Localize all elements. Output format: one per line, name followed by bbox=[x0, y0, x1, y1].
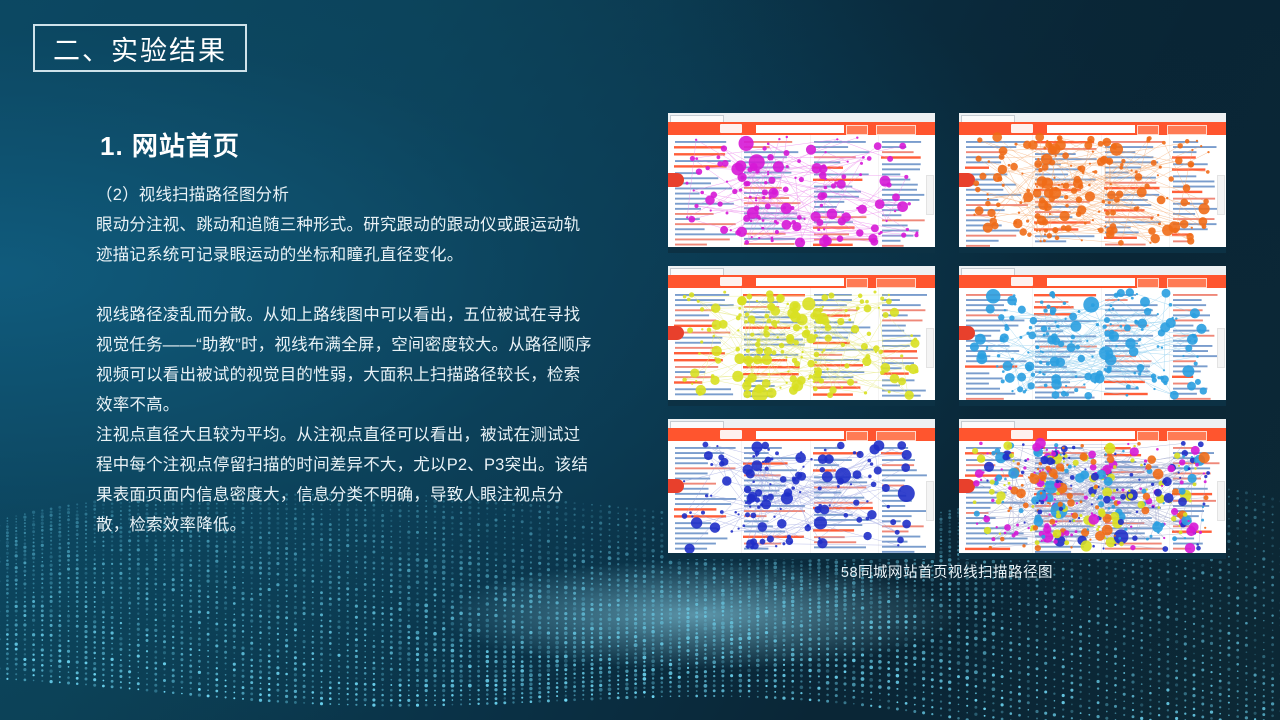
scanpath-overlay bbox=[959, 113, 1226, 253]
body-item-label: （2）视线扫描路径图分析 bbox=[96, 180, 596, 210]
scanpath-thumbnail[interactable] bbox=[959, 113, 1226, 253]
scanpath-thumbnail[interactable] bbox=[668, 113, 935, 253]
site-footer-band bbox=[668, 553, 935, 559]
body-paragraph-1: 眼动分注视、跳动和追随三种形式。研究跟动的跟动仪或跟运动轨迹描记系统可记录眼运动… bbox=[96, 210, 596, 270]
slide-root: 二、实验结果 1. 网站首页 （2）视线扫描路径图分析 眼动分注视、跳动和追随三… bbox=[0, 0, 1280, 720]
site-footer-band bbox=[959, 400, 1226, 406]
scanpath-thumbnail-grid bbox=[668, 113, 1226, 559]
scanpath-overlay bbox=[668, 419, 935, 559]
scanpath-thumbnail[interactable] bbox=[668, 419, 935, 559]
section-heading-text: 二、实验结果 bbox=[53, 29, 227, 68]
scanpath-overlay bbox=[959, 266, 1226, 406]
page-title: 1. 网站首页 bbox=[100, 126, 240, 163]
site-footer-band bbox=[959, 247, 1226, 253]
body-paragraph-2: 视线路径凌乱而分散。从如上路线图中可以看出，五位被试在寻找视觉任务——“助教”时… bbox=[96, 300, 596, 420]
site-footer-band bbox=[668, 247, 935, 253]
body-paragraph-3: 注视点直径大且较为平均。从注视点直径可以看出，被试在测试过程中每个注视点停留扫描… bbox=[96, 420, 596, 540]
section-heading: 二、实验结果 bbox=[33, 24, 247, 72]
scanpath-overlay bbox=[959, 419, 1226, 559]
scanpath-overlay bbox=[668, 113, 935, 253]
paragraph-spacer bbox=[96, 270, 596, 300]
scanpath-thumbnail[interactable] bbox=[959, 419, 1226, 559]
scanpath-thumbnail[interactable] bbox=[959, 266, 1226, 406]
body-text-column: （2）视线扫描路径图分析 眼动分注视、跳动和追随三种形式。研究跟动的跟动仪或跟运… bbox=[96, 180, 596, 540]
site-footer-band bbox=[959, 553, 1226, 559]
site-footer-band bbox=[668, 400, 935, 406]
scanpath-thumbnail[interactable] bbox=[668, 266, 935, 406]
scanpath-overlay bbox=[668, 266, 935, 406]
figure-caption: 58同城网站首页视线扫描路径图 bbox=[668, 561, 1226, 582]
